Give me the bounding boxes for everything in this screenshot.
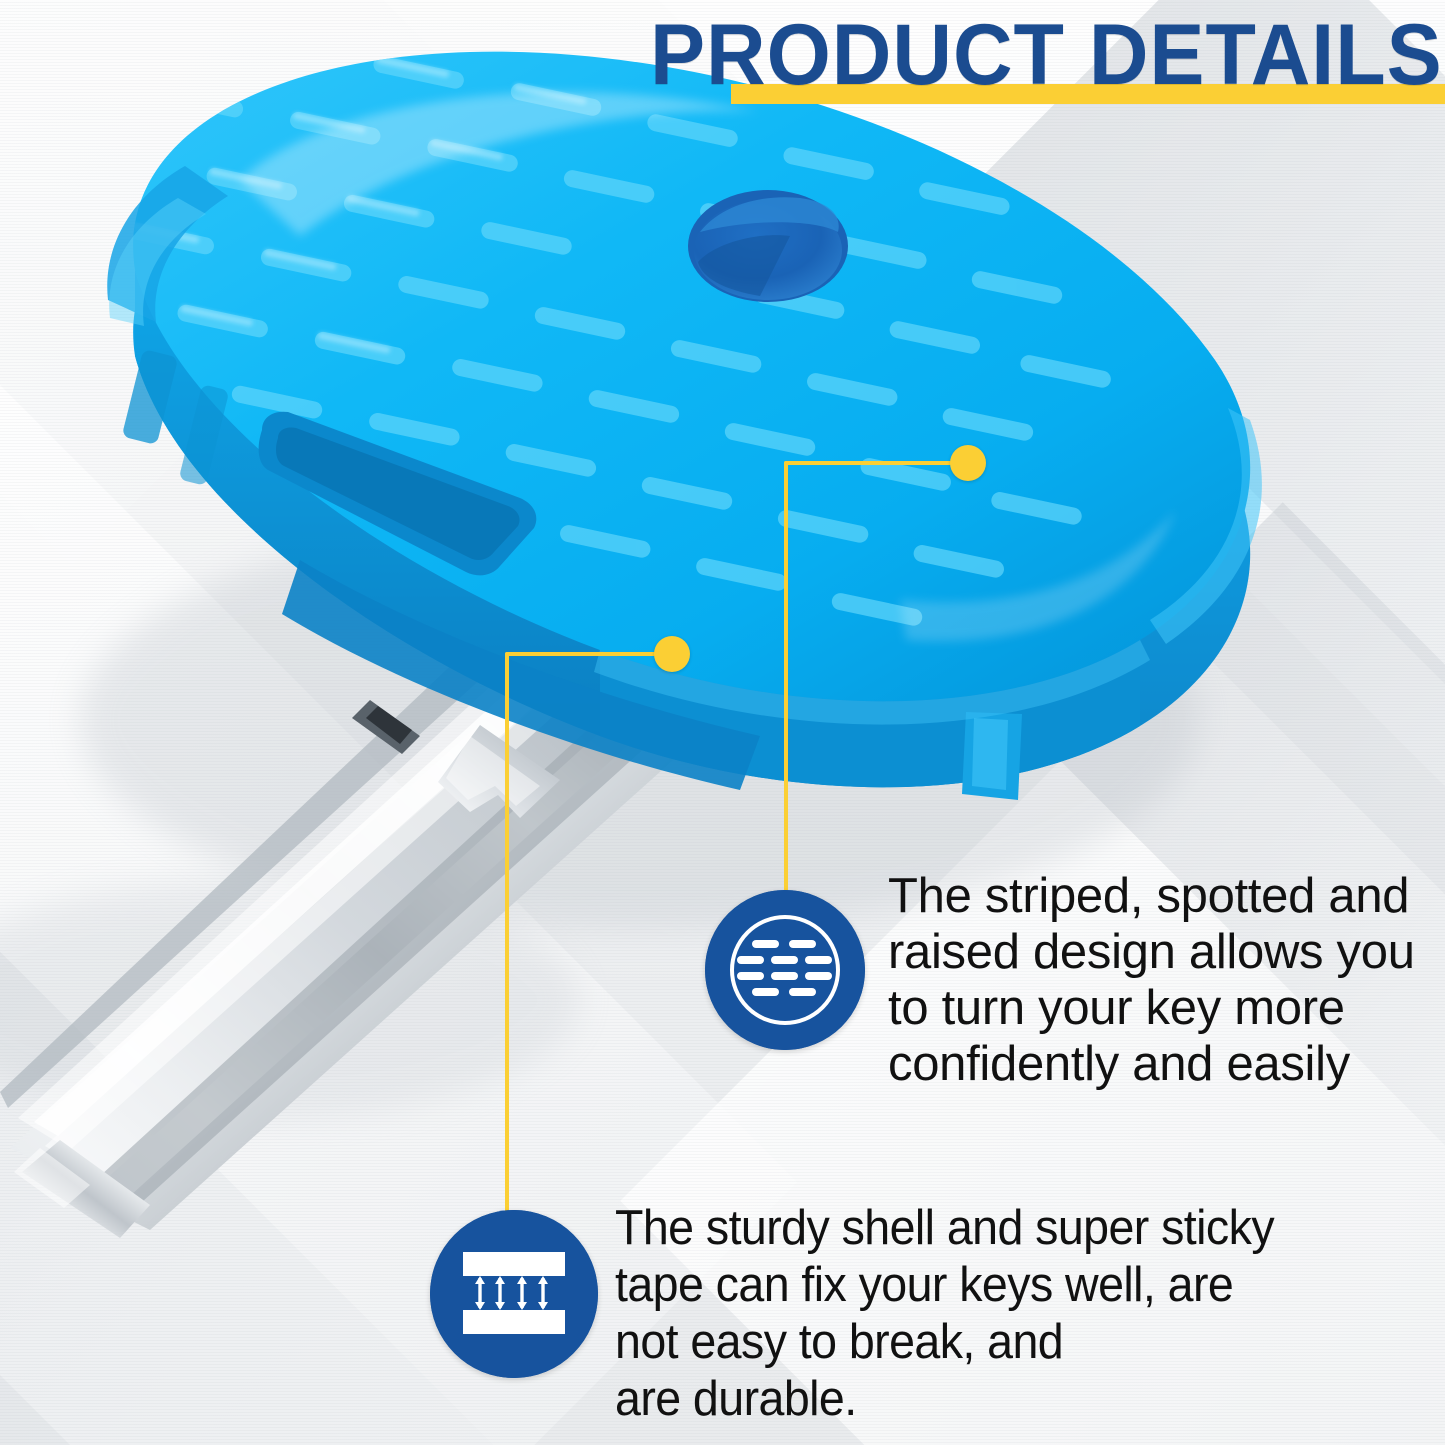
callout-1-line-2: raised design allows you	[888, 924, 1415, 980]
callout-2-description: The sturdy shell and super sticky tape c…	[615, 1200, 1274, 1428]
header: PRODUCT DETAILS	[685, 8, 1445, 118]
striped-pattern-icon	[705, 890, 865, 1050]
striped-pattern-icon-glyph	[705, 890, 865, 1050]
callout-2-line-1: The sturdy shell and super sticky	[615, 1200, 1274, 1257]
callout-2-line-2: tape can fix your keys well, are	[615, 1257, 1274, 1314]
product-details-page: PRODUCT DETAILS	[0, 0, 1445, 1445]
adhesive-tape-icon-glyph	[430, 1210, 598, 1378]
callout-1-line-4: confidently and easily	[888, 1036, 1415, 1092]
page-title: PRODUCT DETAILS	[650, 8, 1443, 102]
callout-2-line-3: not easy to break, and	[615, 1314, 1274, 1371]
callout-1-description: The striped, spotted and raised design a…	[888, 868, 1415, 1092]
callout-1-line-1: The striped, spotted and	[888, 868, 1415, 924]
adhesive-tape-icon	[430, 1210, 598, 1378]
callout-1-line-3: to turn your key more	[888, 980, 1415, 1036]
callout-2-line-4: are durable.	[615, 1371, 1274, 1428]
